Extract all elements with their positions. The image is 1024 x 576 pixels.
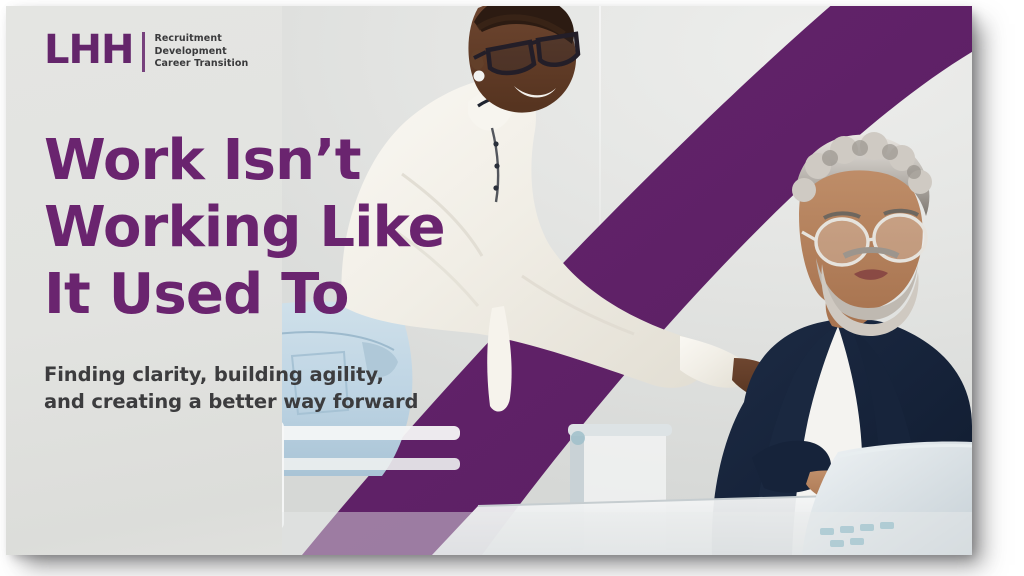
- page-subtitle: Finding clarity, building agility, and c…: [44, 361, 434, 415]
- lhh-logo[interactable]: LHH Recruitment Development Career Trans…: [44, 30, 248, 72]
- subtitle-line-1: Finding clarity, building agility,: [44, 361, 434, 388]
- logo-divider: [142, 32, 145, 72]
- tagline-line-1: Recruitment: [154, 33, 248, 46]
- headline-line-2: Working Like: [44, 194, 424, 261]
- slide-stage: LHH Recruitment Development Career Trans…: [0, 0, 1024, 576]
- tagline-line-3: Career Transition: [154, 58, 248, 71]
- tagline-line-2: Development: [154, 46, 248, 59]
- headline-line-3: It Used To: [44, 261, 424, 328]
- lhh-wordmark: LHH: [44, 30, 133, 70]
- text-column: LHH Recruitment Development Career Trans…: [6, 6, 436, 555]
- page-title: Work Isn’t Working Like It Used To: [44, 127, 424, 328]
- subtitle-line-2: and creating a better way forward: [44, 388, 434, 415]
- logo-tagline: Recruitment Development Career Transitio…: [154, 30, 248, 71]
- slide-card: LHH Recruitment Development Career Trans…: [6, 6, 972, 555]
- headline-line-1: Work Isn’t: [44, 127, 424, 194]
